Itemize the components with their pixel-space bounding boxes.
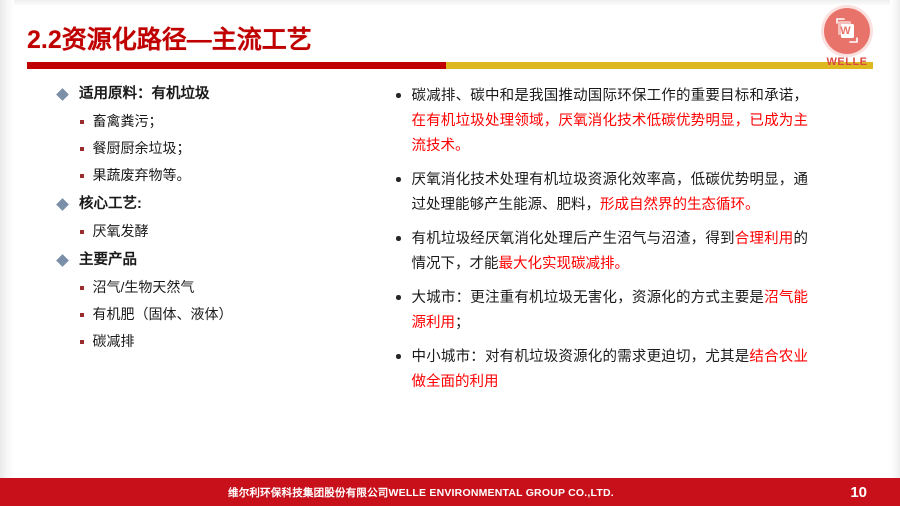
divider-red-segment <box>27 62 446 69</box>
left-heading-label: 主要产品 <box>79 250 137 271</box>
logo-wordmark: WELLE <box>816 56 878 68</box>
diamond-bullet-icon <box>56 88 69 101</box>
round-bullet-icon <box>396 354 401 359</box>
bullet-small-city: 中小城市：对有机垃圾资源化的需求更迫切，尤其是结合农业做全面的利用 <box>412 345 809 395</box>
slide-footer: 维尔利环保科技集团股份有限公司WELLE ENVIRONMENTAL GROUP… <box>0 478 900 506</box>
left-group-core-process: 核心工艺: 厌氧发酵 <box>58 194 378 242</box>
left-heading-label: 核心工艺: <box>79 194 142 215</box>
list-item-label: 畜禽粪污； <box>93 111 163 132</box>
title-divider <box>27 62 873 69</box>
slide-edge-right <box>890 0 900 506</box>
square-bullet-icon <box>80 120 84 124</box>
diamond-bullet-icon <box>56 198 69 211</box>
list-item-label: 碳减排 <box>93 331 135 352</box>
left-heading-materials: 适用原料：有机垃圾 <box>58 84 378 105</box>
slide-root: 2.2资源化路径—主流工艺 W WELLE 适用原料：有机垃圾 <box>0 0 900 506</box>
highlighted-text: 形成自然界的生态循环。 <box>600 197 760 213</box>
slide-edge-top <box>0 0 900 6</box>
left-heading-label: 适用原料：有机垃圾 <box>79 84 210 105</box>
square-bullet-icon <box>80 147 84 151</box>
list-item: 厌氧消化技术处理有机垃圾资源化效率高，低碳优势明显，通过处理能够产生能源、肥料，… <box>396 168 808 218</box>
round-bullet-icon <box>396 93 401 98</box>
body-text: 中小城市：对有机垃圾资源化的需求更迫切，尤其是 <box>412 349 750 365</box>
list-item: 餐厨厨余垃圾； <box>80 138 378 159</box>
list-item: 碳减排 <box>80 331 378 352</box>
highlighted-text: 在有机垃圾处理领域，厌氧消化技术低碳优势明显，已成为主流技术。 <box>412 113 809 154</box>
highlighted-text: 最大化实现碳减排。 <box>499 256 630 272</box>
page-number: 10 <box>850 484 867 501</box>
list-item-label: 餐厨厨余垃圾； <box>93 138 191 159</box>
list-item: 碳减排、碳中和是我国推动国际环保工作的重要目标和承诺，在有机垃圾处理领域，厌氧消… <box>396 84 808 159</box>
left-group-products: 主要产品 沼气/生物天然气 有机肥（固体、液体） 碳减排 <box>58 250 378 352</box>
svg-text:W: W <box>840 25 851 37</box>
body-text: 有机垃圾经厌氧消化处理后产生沼气与沼渣，得到 <box>412 231 735 247</box>
highlighted-text: 合理利用 <box>735 231 794 247</box>
right-content-column: 碳减排、碳中和是我国推动国际环保工作的重要目标和承诺，在有机垃圾处理领域，厌氧消… <box>396 84 808 404</box>
list-item-label: 有机肥（固体、液体） <box>93 304 233 325</box>
bullet-biogas-residue: 有机垃圾经厌氧消化处理后产生沼气与沼渣，得到合理利用的情况下，才能最大化实现碳减… <box>412 227 809 277</box>
square-bullet-icon <box>80 340 84 344</box>
square-bullet-icon <box>80 286 84 290</box>
round-bullet-icon <box>396 236 401 241</box>
left-group-materials: 适用原料：有机垃圾 畜禽粪污； 餐厨厨余垃圾； 果蔬废弃物等。 <box>58 84 378 186</box>
left-heading-core-process: 核心工艺: <box>58 194 378 215</box>
list-item: 沼气/生物天然气 <box>80 277 378 298</box>
body-text: 大城市：更注重有机垃圾无害化，资源化的方式主要是 <box>412 290 765 306</box>
body-text: ； <box>455 315 470 331</box>
list-item-label: 沼气/生物天然气 <box>93 277 195 298</box>
divider-gold-segment <box>446 62 873 69</box>
square-bullet-icon <box>80 230 84 234</box>
round-bullet-icon <box>396 177 401 182</box>
page-title: 2.2资源化路径—主流工艺 <box>27 20 312 56</box>
body-text: 碳减排、碳中和是我国推动国际环保工作的重要目标和承诺， <box>412 88 809 104</box>
list-item: 厌氧发酵 <box>80 221 378 242</box>
round-bullet-icon <box>396 295 401 300</box>
diamond-bullet-icon <box>56 254 69 267</box>
bullet-efficiency: 厌氧消化技术处理有机垃圾资源化效率高，低碳优势明显，通过处理能够产生能源、肥料，… <box>412 168 809 218</box>
bullet-big-city: 大城市：更注重有机垃圾无害化，资源化的方式主要是沼气能源利用； <box>412 286 809 336</box>
list-item: 大城市：更注重有机垃圾无害化，资源化的方式主要是沼气能源利用； <box>396 286 808 336</box>
bullet-carbon-goal: 碳减排、碳中和是我国推动国际环保工作的重要目标和承诺，在有机垃圾处理领域，厌氧消… <box>412 84 809 159</box>
list-item: 畜禽粪污； <box>80 111 378 132</box>
list-item: 果蔬废弃物等。 <box>80 165 378 186</box>
left-content-column: 适用原料：有机垃圾 畜禽粪污； 餐厨厨余垃圾； 果蔬废弃物等。 核心工艺: <box>58 84 378 358</box>
list-item: 有机垃圾经厌氧消化处理后产生沼气与沼渣，得到合理利用的情况下，才能最大化实现碳减… <box>396 227 808 277</box>
footer-company-name: 维尔利环保科技集团股份有限公司WELLE ENVIRONMENTAL GROUP… <box>228 485 614 500</box>
welle-w-logo-icon: W <box>824 8 870 54</box>
list-item-label: 厌氧发酵 <box>93 221 149 242</box>
list-item: 有机肥（固体、液体） <box>80 304 378 325</box>
slide-edge-left <box>0 0 14 506</box>
list-item: 中小城市：对有机垃圾资源化的需求更迫切，尤其是结合农业做全面的利用 <box>396 345 808 395</box>
square-bullet-icon <box>80 313 84 317</box>
left-heading-products: 主要产品 <box>58 250 378 271</box>
square-bullet-icon <box>80 174 84 178</box>
brand-logo: W WELLE <box>816 8 878 68</box>
list-item-label: 果蔬废弃物等。 <box>93 165 191 186</box>
